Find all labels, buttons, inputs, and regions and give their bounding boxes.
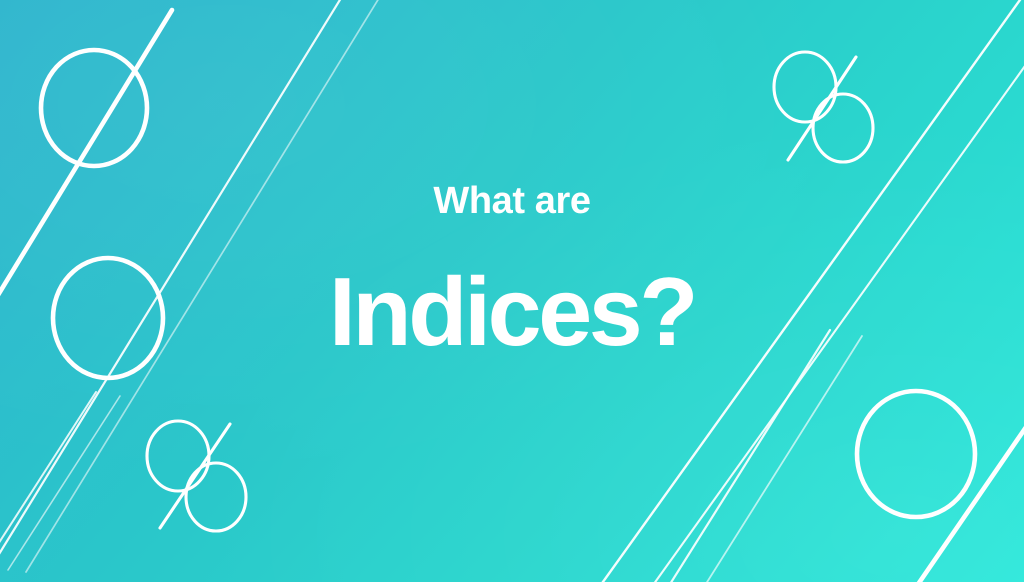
percent-top-right-medium — [774, 52, 873, 162]
percent-bottom-right-large — [857, 391, 1024, 582]
title-text-block: What are Indices? — [0, 182, 1024, 360]
diagonal-lines-mid-left — [0, 392, 96, 566]
diagonal-lines-bottom-center — [660, 330, 830, 582]
diagonal-lines-bottom-center-faint — [692, 336, 862, 582]
page-title: Indices? — [0, 263, 1024, 360]
percent-bottom-left-medium — [147, 421, 246, 531]
diagonal-lines-mid-left-faint — [8, 396, 120, 570]
eyebrow-text: What are — [0, 182, 1024, 220]
title-slide: What are Indices? — [0, 0, 1024, 582]
